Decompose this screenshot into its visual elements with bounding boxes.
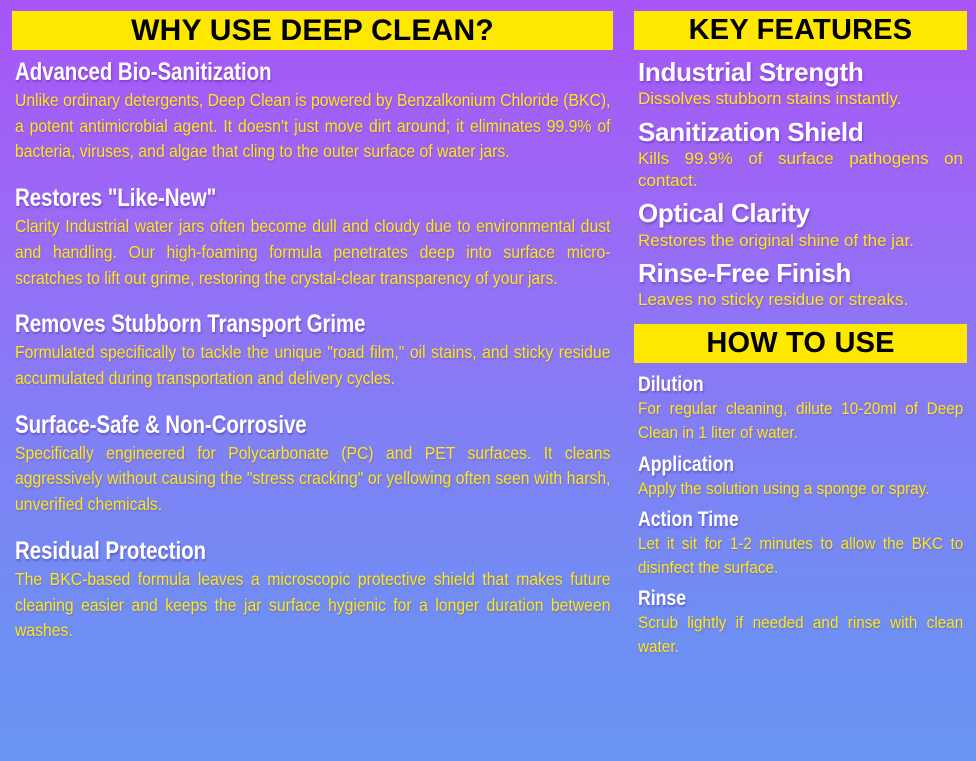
section-body: Unlike ordinary detergents, Deep Clean i… — [15, 88, 610, 165]
step-application: Application Apply the solution using a s… — [638, 453, 963, 501]
feature-heading: Optical Clarity — [638, 199, 963, 228]
section-body: The BKC-based formula leaves a microscop… — [15, 567, 610, 644]
feature-body: Restores the original shine of the jar. — [638, 230, 963, 252]
feature-heading: Sanitization Shield — [638, 118, 963, 147]
section-restores-like-new: Restores "Like-New" Clarity Industrial w… — [15, 185, 610, 291]
section-body: Formulated specifically to tackle the un… — [15, 340, 610, 391]
section-advanced-bio-sanitization: Advanced Bio-Sanitization Unlike ordinar… — [15, 59, 610, 165]
feature-optical-clarity: Optical Clarity Restores the original sh… — [638, 199, 963, 251]
step-body: For regular cleaning, dilute 10-20ml of … — [638, 397, 963, 445]
key-features-banner: KEY FEATURES — [634, 11, 967, 50]
step-body: Scrub lightly if needed and rinse with c… — [638, 611, 963, 659]
why-use-sections: Advanced Bio-Sanitization Unlike ordinar… — [12, 59, 613, 644]
step-body: Apply the solution using a sponge or spr… — [638, 477, 963, 501]
section-heading: Advanced Bio-Sanitization — [15, 59, 610, 86]
section-heading: Removes Stubborn Transport Grime — [15, 311, 610, 338]
step-action-time: Action Time Let it sit for 1-2 minutes t… — [638, 508, 963, 580]
step-body: Let it sit for 1-2 minutes to allow the … — [638, 532, 963, 580]
step-heading: Dilution — [638, 373, 963, 396]
feature-heading: Rinse-Free Finish — [638, 259, 963, 288]
feature-body: Dissolves stubborn stains instantly. — [638, 88, 963, 110]
feature-body: Kills 99.9% of surface pathogens on cont… — [638, 148, 963, 192]
right-column: KEY FEATURES Industrial Strength Dissolv… — [625, 0, 976, 761]
section-heading: Restores "Like-New" — [15, 185, 610, 212]
section-body: Clarity Industrial water jars often beco… — [15, 214, 610, 291]
feature-rinse-free-finish: Rinse-Free Finish Leaves no sticky resid… — [638, 259, 963, 311]
section-body: Specifically engineered for Polycarbonat… — [15, 441, 610, 518]
step-heading: Rinse — [638, 587, 963, 610]
section-heading: Residual Protection — [15, 538, 610, 565]
section-heading: Surface-Safe & Non-Corrosive — [15, 412, 610, 439]
how-to-use-sections: Dilution For regular cleaning, dilute 10… — [634, 373, 967, 659]
infographic-page: WHY USE DEEP CLEAN? Advanced Bio-Sanitiz… — [0, 0, 976, 761]
step-dilution: Dilution For regular cleaning, dilute 10… — [638, 373, 963, 445]
how-to-use-banner: HOW TO USE — [634, 324, 967, 363]
feature-sanitization-shield: Sanitization Shield Kills 99.9% of surfa… — [638, 118, 963, 192]
feature-heading: Industrial Strength — [638, 58, 963, 87]
step-heading: Application — [638, 453, 963, 476]
key-features-sections: Industrial Strength Dissolves stubborn s… — [634, 58, 967, 311]
section-removes-stubborn-transport-grime: Removes Stubborn Transport Grime Formula… — [15, 311, 610, 391]
step-rinse: Rinse Scrub lightly if needed and rinse … — [638, 587, 963, 659]
feature-industrial-strength: Industrial Strength Dissolves stubborn s… — [638, 58, 963, 110]
section-residual-protection: Residual Protection The BKC-based formul… — [15, 538, 610, 644]
left-column: WHY USE DEEP CLEAN? Advanced Bio-Sanitiz… — [0, 0, 625, 761]
step-heading: Action Time — [638, 508, 963, 531]
section-surface-safe-non-corrosive: Surface-Safe & Non-Corrosive Specificall… — [15, 412, 610, 518]
feature-body: Leaves no sticky residue or streaks. — [638, 289, 963, 311]
why-use-deep-clean-banner: WHY USE DEEP CLEAN? — [12, 11, 613, 50]
